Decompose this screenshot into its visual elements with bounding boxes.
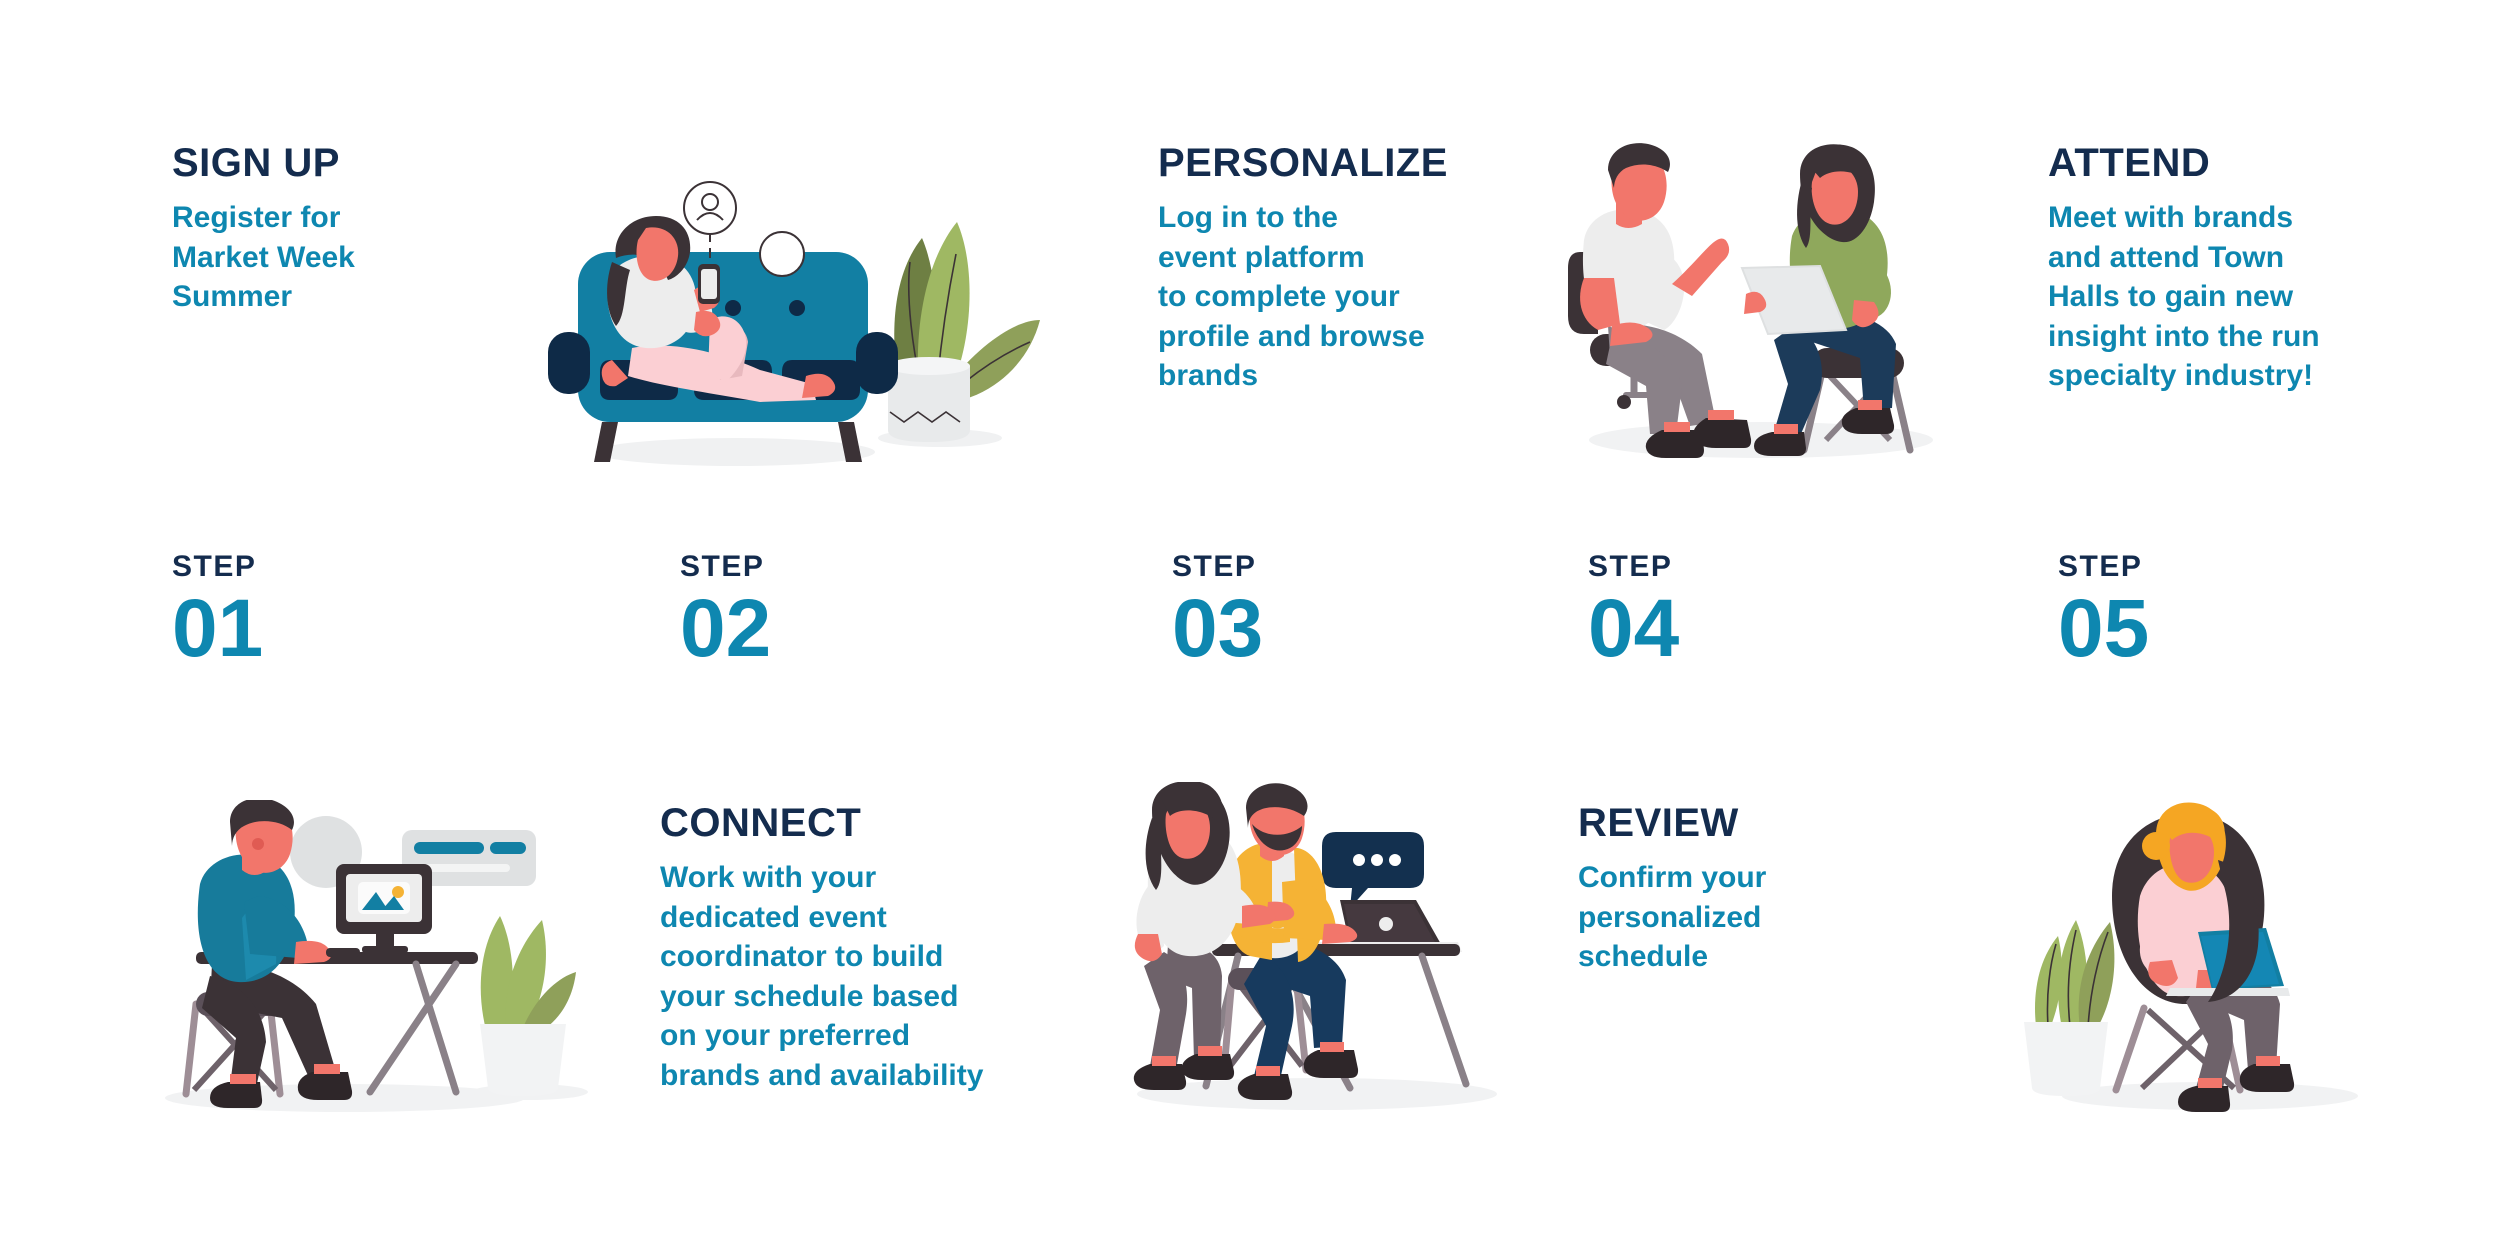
step-06-body: Work with your dedicated event coordinat… [660, 858, 1020, 1096]
step-marker-02-word: STEP [680, 552, 771, 582]
step-03-title: PERSONALIZE [1158, 142, 1488, 184]
step-06-title: CONNECT [660, 802, 1020, 844]
illustration-woman-in-armchair [2010, 800, 2390, 1120]
step-06-text-block: CONNECT Work with your dedicated event c… [660, 802, 1020, 1096]
step-marker-05-number: 05 [2058, 586, 2149, 672]
step-03-body: Log in to the event platform to complete… [1158, 198, 1488, 396]
step-marker-04-word: STEP [1588, 552, 1679, 582]
step-marker-03: STEP 03 [1172, 552, 1263, 672]
infographic-canvas: SIGN UP Register for Market Week Summer [0, 0, 2500, 1250]
step-marker-04: STEP 04 [1588, 552, 1679, 672]
step-01-title: SIGN UP [172, 142, 472, 184]
step-marker-02-number: 02 [680, 586, 771, 672]
step-07-body: Confirm your personalized schedule [1578, 858, 1908, 977]
step-01-body: Register for Market Week Summer [172, 198, 472, 317]
step-marker-05: STEP 05 [2058, 552, 2149, 672]
step-marker-03-number: 03 [1172, 586, 1263, 672]
step-marker-01: STEP 01 [172, 552, 263, 672]
illustration-man-at-desk [140, 800, 600, 1120]
step-05-title: ATTEND [2048, 142, 2378, 184]
step-07-title: REVIEW [1578, 802, 1908, 844]
step-05-body: Meet with brands and attend Town Halls t… [2048, 198, 2378, 396]
step-marker-04-number: 04 [1588, 586, 1679, 672]
step-marker-01-number: 01 [172, 586, 263, 672]
step-01-text-block: SIGN UP Register for Market Week Summer [172, 142, 472, 317]
step-marker-03-word: STEP [1172, 552, 1263, 582]
step-03-text-block: PERSONALIZE Log in to the event platform… [1158, 142, 1488, 396]
illustration-two-people-laptop [1092, 782, 1532, 1122]
step-07-text-block: REVIEW Confirm your personalized schedul… [1578, 802, 1908, 977]
step-marker-05-word: STEP [2058, 552, 2149, 582]
step-marker-01-word: STEP [172, 552, 263, 582]
illustration-two-people-meeting [1556, 140, 1956, 470]
illustration-woman-on-couch [520, 170, 1040, 490]
step-05-text-block: ATTEND Meet with brands and attend Town … [2048, 142, 2378, 396]
step-marker-02: STEP 02 [680, 552, 771, 672]
